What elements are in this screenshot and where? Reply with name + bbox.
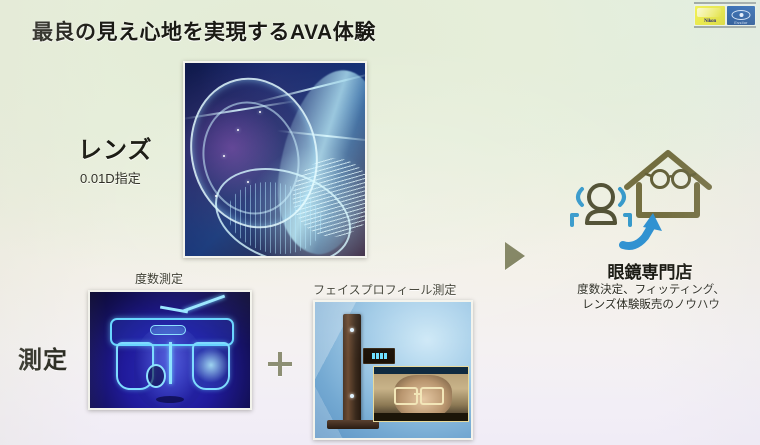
lens-spark [259, 111, 261, 113]
caption-face-profile: フェイスプロフィール測定 [313, 281, 456, 298]
partner-logo-wordmark: Essilor [727, 20, 755, 25]
page-title: 最良の見え心地を実現するAVA体験 [32, 16, 376, 46]
scanner-base [327, 420, 379, 429]
lens-spark [237, 129, 239, 131]
phoropter-arm [183, 295, 225, 313]
nikon-logo-sweep [697, 8, 721, 17]
lens-visual-image [183, 61, 367, 258]
phoropter-knob [150, 325, 186, 335]
label-lens: レンズ [78, 130, 153, 165]
scanner-display-glasses-bridge [414, 393, 422, 395]
phoropter-lens-right [192, 342, 230, 390]
partner-logo: Essilor [727, 6, 755, 25]
scanner-display-bottombar [374, 413, 468, 421]
scanner-control-panel [363, 348, 395, 364]
partner-logo-eye-icon [732, 10, 751, 20]
flow-arrow-icon [505, 242, 525, 270]
caption-power-measurement: 度数測定 [135, 270, 183, 287]
label-optical-shop-sub-line2: レンズ体験販売のノウハウ [540, 298, 760, 313]
glasses-icon [646, 171, 695, 188]
phoropter-dial [146, 364, 166, 388]
lens-spark [223, 155, 225, 157]
scanner-display [373, 366, 469, 422]
label-measure: 測定 [18, 340, 68, 375]
label-lens-sub: 0.01D指定 [80, 168, 141, 187]
nikon-logo: Nikon [695, 6, 725, 25]
face-scanner-image [313, 300, 473, 440]
phoropter-arm [160, 306, 188, 314]
people-icon [572, 185, 630, 225]
presentation-slide: 最良の見え心地を実現するAVA体験 Nikon Essilor レンズ 0.01… [0, 0, 760, 445]
phoropter-image [88, 290, 252, 410]
optical-shop-icon-group [565, 145, 720, 255]
lens-spark [247, 181, 249, 183]
scanner-indicator-dot [350, 394, 354, 398]
plus-icon [268, 352, 292, 376]
scanner-display-topbar [374, 367, 468, 374]
label-optical-shop-sub-line1: 度数決定、フィッティング、 [540, 283, 760, 298]
scanner-indicator-dot [350, 328, 354, 332]
phoropter-stem [169, 342, 172, 384]
label-optical-shop-sub: 度数決定、フィッティング、 レンズ体験販売のノウハウ [540, 283, 760, 313]
scanner-display-glasses-left [394, 387, 418, 405]
nikon-logo-wordmark: Nikon [695, 19, 725, 24]
phoropter-subject-mouth [156, 396, 184, 403]
scanner-display-glasses-right [420, 387, 444, 405]
label-optical-shop: 眼鏡専門店 [540, 258, 760, 283]
lens-spark [215, 195, 217, 197]
logo-strip: Nikon Essilor [694, 2, 756, 28]
